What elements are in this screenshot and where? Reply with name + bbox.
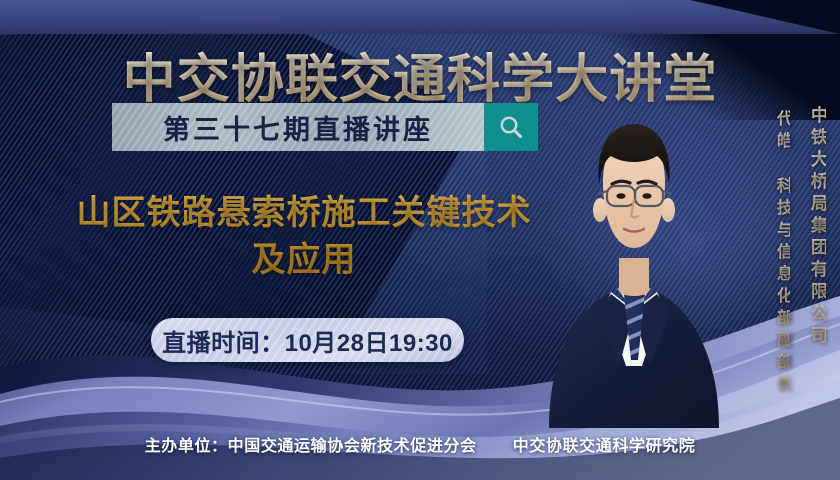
neck — [619, 258, 649, 296]
footer-host-suffix: 中交协联交通科学研究院 — [513, 438, 696, 455]
speaker-portrait-illustration — [541, 98, 726, 428]
live-time-badge: 直播时间：10月28日19:30 — [151, 318, 464, 362]
eye-right — [642, 193, 651, 199]
footer-organizers: 主办单位：中国交通运输协会新技术促进分会 中交协联交通科学研究院 — [0, 432, 840, 456]
session-bar-body: 第三十七期直播讲座 — [112, 103, 484, 151]
session-label: 第三十七期直播讲座 — [163, 108, 433, 147]
lecture-title-line-1: 山区铁路悬索桥施工关键技术 — [44, 190, 564, 237]
speaker-organization: 中铁大桥局集团有限公司 — [809, 106, 826, 348]
speaker-name-and-role: 代皓 科技与信息化部副部长 — [774, 110, 790, 397]
eye-left — [616, 193, 625, 199]
live-time-label: 直播时间：10月28日19:30 — [162, 323, 453, 358]
webinar-poster: 中交协联交通科学大讲堂 第三十七期直播讲座 山区铁路悬索桥施工关键技术 及应用 … — [0, 0, 840, 480]
speaker-portrait — [541, 98, 726, 428]
background-top-band — [0, 0, 840, 34]
footer-host-prefix: 主办单位：中国交通运输协会新技术促进分会 — [145, 438, 477, 455]
lecture-title-line-2: 及应用 — [44, 237, 564, 284]
lecture-title: 山区铁路悬索桥施工关键技术 及应用 — [44, 190, 564, 284]
session-bar: 第三十七期直播讲座 — [112, 103, 538, 151]
search-icon[interactable] — [484, 103, 538, 151]
search-icon-glyph — [497, 113, 525, 141]
